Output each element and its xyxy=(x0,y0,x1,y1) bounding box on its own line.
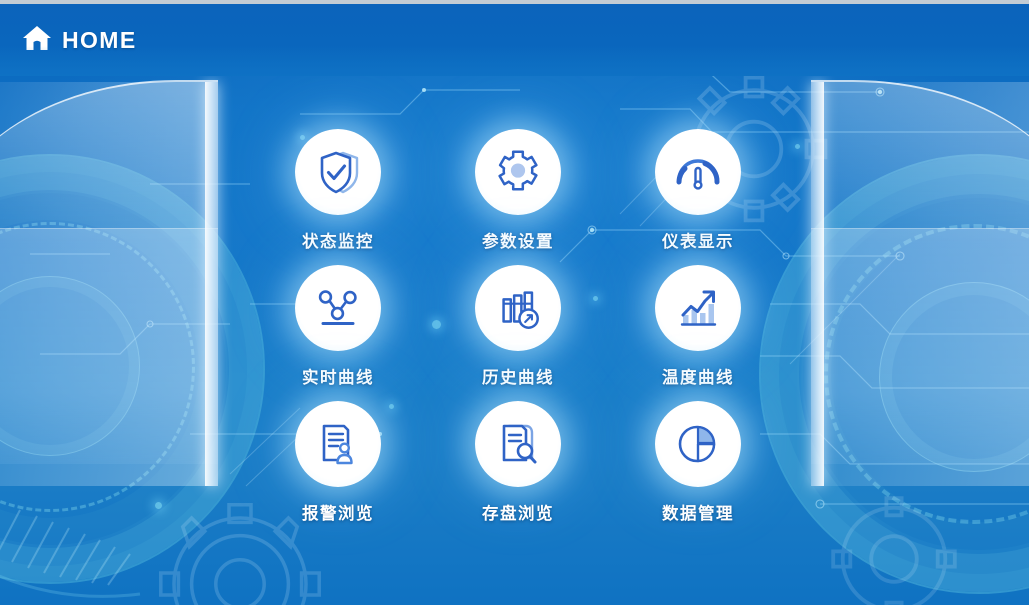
menu-icon-circle[interactable] xyxy=(475,129,561,215)
menu-item-history-curve[interactable]: 历史曲线 xyxy=(428,265,608,401)
gear-icon xyxy=(493,147,543,197)
gear-outline-bottom-right xyxy=(799,464,989,605)
menu-item-data-management[interactable]: 数据管理 xyxy=(608,401,788,537)
menu-icon-circle[interactable] xyxy=(295,265,381,351)
hud-ring-left-inner xyxy=(0,276,140,456)
page-header: HOME xyxy=(0,4,1029,76)
menu-item-parameter-settings[interactable]: 参数设置 xyxy=(428,129,608,265)
glow-dot xyxy=(155,502,162,509)
menu-icon-circle[interactable] xyxy=(295,401,381,487)
menu-item-label: 存盘浏览 xyxy=(482,500,554,524)
bar-chart-icon xyxy=(493,283,543,333)
menu-item-archive-browse[interactable]: 存盘浏览 xyxy=(428,401,608,537)
hud-ring-right-outer xyxy=(759,154,1029,594)
tick-fan-decoration xyxy=(0,444,220,604)
menu-item-status-monitor[interactable]: 状态监控 xyxy=(248,129,428,265)
shield-check-icon xyxy=(312,146,364,198)
trend-up-chart-icon xyxy=(672,282,724,334)
menu-icon-circle[interactable] xyxy=(475,265,561,351)
menu-icon-circle[interactable] xyxy=(655,401,741,487)
menu-item-alarm-browse[interactable]: 报警浏览 xyxy=(248,401,428,537)
document-search-icon xyxy=(492,418,544,470)
scatter-graph-icon xyxy=(312,282,364,334)
glass-panel-left xyxy=(0,82,218,486)
menu-item-label: 报警浏览 xyxy=(302,500,374,524)
hud-ring-right-mid xyxy=(824,224,1029,524)
menu-item-label: 实时曲线 xyxy=(302,364,374,388)
gauge-icon xyxy=(672,146,724,198)
menu-item-realtime-curve[interactable]: 实时曲线 xyxy=(248,265,428,401)
hud-ring-left-mid xyxy=(0,222,195,512)
menu-item-temperature-curve[interactable]: 温度曲线 xyxy=(608,265,788,401)
menu-item-label: 参数设置 xyxy=(482,228,554,252)
menu-item-meter-display[interactable]: 仪表显示 xyxy=(608,129,788,265)
page-title: HOME xyxy=(62,27,137,54)
glow-dot xyxy=(795,144,800,149)
main-menu-grid: 状态监控 参数设置 仪表显示 xyxy=(248,129,788,537)
glass-panel-right xyxy=(811,82,1029,486)
home-screen: HOME 状态监控 参数设置 xyxy=(0,0,1029,605)
menu-icon-circle[interactable] xyxy=(475,401,561,487)
hud-ring-right-inner xyxy=(879,282,1029,472)
menu-icon-circle[interactable] xyxy=(655,129,741,215)
document-person-icon xyxy=(312,418,364,470)
menu-item-label: 仪表显示 xyxy=(662,228,734,252)
menu-item-label: 数据管理 xyxy=(662,500,734,524)
menu-item-label: 状态监控 xyxy=(302,228,374,252)
menu-item-label: 温度曲线 xyxy=(662,364,734,388)
home-icon xyxy=(22,24,52,57)
menu-icon-circle[interactable] xyxy=(295,129,381,215)
menu-item-label: 历史曲线 xyxy=(482,364,554,388)
hud-ring-left-outer xyxy=(0,154,265,584)
menu-icon-circle[interactable] xyxy=(655,265,741,351)
pie-chart-icon xyxy=(672,418,724,470)
